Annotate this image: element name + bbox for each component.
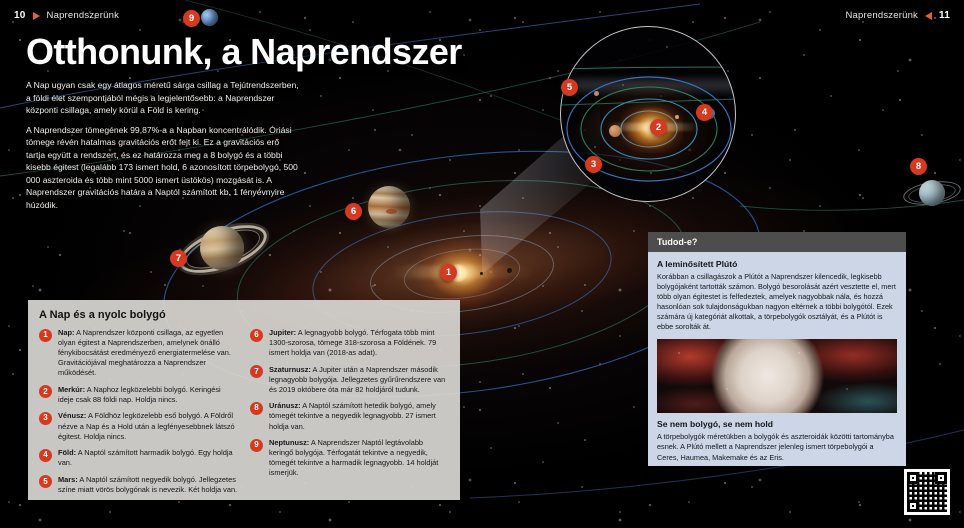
list-item: 2 Merkúr: A Naphoz legközelebbi bolygó. … xyxy=(39,385,238,405)
entry-number: 4 xyxy=(39,449,52,462)
pluto-subtitle: A leminősített Plútó xyxy=(657,259,897,269)
entry-term: Vénusz: xyxy=(58,411,86,420)
entry-term: Merkúr: xyxy=(58,385,85,394)
marker-label: 4 xyxy=(702,108,707,118)
marker-label: 6 xyxy=(351,207,356,217)
list-item: 7 Szaturnusz: A Jupiter után a Naprendsz… xyxy=(250,365,449,395)
list-item: 9 Neptunusz: A Naprendszer Naptól legtáv… xyxy=(250,438,449,478)
entry-number: 5 xyxy=(39,475,52,488)
list-item: 3 Vénusz: A Földhöz legközelebb eső boly… xyxy=(39,411,238,441)
entry-term: Nap: xyxy=(58,328,74,337)
marker-label: 5 xyxy=(567,83,572,93)
chevron-right-icon xyxy=(33,12,40,20)
page-number-right: 11 xyxy=(939,10,950,21)
list-item: 1 Nap: A Naprendszer központi csillaga, … xyxy=(39,328,238,378)
list-item: 8 Uránusz: A Naptól számított hetedik bo… xyxy=(250,401,449,431)
inset-mars-planet xyxy=(594,91,599,96)
entry-text: Jupiter: A legnagyobb bolygó. Térfogata … xyxy=(269,328,449,358)
entry-desc: A Naptól számított negyedik bolygó. Jell… xyxy=(58,475,237,494)
entry-desc: A Naptól számított harmadik bolygó. Egy … xyxy=(58,448,233,467)
qr-code-pattern xyxy=(907,472,947,512)
intro-paragraph-1: A Nap ugyan csak egy átlagos méretű sárg… xyxy=(26,79,300,117)
entry-number: 9 xyxy=(250,439,263,452)
intro-paragraph-2: A Naprendszer tömegének 99,87%-a a Napba… xyxy=(26,124,300,212)
entry-number: 2 xyxy=(39,385,52,398)
entry-term: Föld: xyxy=(58,448,76,457)
qr-code[interactable] xyxy=(904,469,950,515)
marker-mars-inset[interactable]: 5 xyxy=(561,79,578,96)
entry-term: Neptunusz: xyxy=(269,438,309,447)
marker-sun[interactable]: 1 xyxy=(440,264,457,281)
marker-label: 2 xyxy=(656,123,661,133)
pluto-photo xyxy=(657,339,897,413)
marker-earth-inset[interactable]: 4 xyxy=(696,104,713,121)
marker-neptune[interactable]: 9 xyxy=(183,10,200,27)
entry-term: Mars: xyxy=(58,475,78,484)
entry-term: Uránusz: xyxy=(269,401,301,410)
inner-planet-dot-a xyxy=(480,272,483,275)
header-left: 10 Naprendszerünk xyxy=(14,10,119,21)
marker-label: 7 xyxy=(176,254,181,264)
header-left-label: Naprendszerünk xyxy=(47,10,120,21)
marker-venus-inset[interactable]: 3 xyxy=(585,156,602,173)
did-you-know-header: Tudod-e? xyxy=(648,232,906,252)
entry-text: Uránusz: A Naptól számított hetedik boly… xyxy=(269,401,449,431)
entry-number: 8 xyxy=(250,402,263,415)
uranus-planet xyxy=(919,180,945,206)
marker-jupiter[interactable]: 6 xyxy=(345,203,362,220)
entry-desc: A Naprendszer központi csillaga, az egye… xyxy=(58,328,231,377)
planets-list-title: A Nap és a nyolc bolygó xyxy=(39,309,449,321)
saturn-planet xyxy=(200,226,244,270)
marker-uranus[interactable]: 8 xyxy=(910,158,927,175)
intro-text: A Nap ugyan csak egy átlagos méretű sárg… xyxy=(26,79,300,211)
list-item: 4 Föld: A Naptól számított harmadik boly… xyxy=(39,448,238,468)
list-item: 6 Jupiter: A legnagyobb bolygó. Térfogat… xyxy=(250,328,449,358)
entry-term: Jupiter: xyxy=(269,328,296,337)
chevron-left-icon xyxy=(925,12,932,20)
marker-label: 1 xyxy=(446,268,451,278)
did-you-know-body: A leminősített Plútó Korábban a csillagá… xyxy=(648,252,906,463)
marker-mercury-inset[interactable]: 2 xyxy=(650,119,667,136)
entry-text: Szaturnusz: A Jupiter után a Naprendszer… xyxy=(269,365,449,395)
entry-text: Vénusz: A Földhöz legközelebb eső bolygó… xyxy=(58,411,238,441)
jupiter-great-red-spot xyxy=(386,209,397,214)
qr-finder-bottom-left xyxy=(907,500,919,512)
entry-number: 3 xyxy=(39,412,52,425)
jupiter-planet xyxy=(368,186,410,228)
entry-number: 6 xyxy=(250,329,263,342)
marker-label: 9 xyxy=(189,14,194,24)
marker-label: 3 xyxy=(591,160,596,170)
qr-finder-top-left xyxy=(907,472,919,484)
entry-number: 7 xyxy=(250,365,263,378)
entry-text: Föld: A Naptól számított harmadik bolygó… xyxy=(58,448,238,468)
entry-text: Neptunusz: A Naprendszer Naptól legtávol… xyxy=(269,438,449,478)
entry-term: Szaturnusz: xyxy=(269,365,311,374)
dwarf-planet-subtitle: Se nem bolygó, se nem hold xyxy=(657,419,897,429)
list-item: 5 Mars: A Naptól számított negyedik boly… xyxy=(39,475,238,495)
qr-finder-top-right xyxy=(935,472,947,484)
did-you-know-panel: Tudod-e? A leminősített Plútó Korábban a… xyxy=(648,232,906,466)
inset-venus-planet xyxy=(609,125,621,137)
planets-list-panel: A Nap és a nyolc bolygó 1 Nap: A Naprend… xyxy=(28,300,460,500)
entry-number: 1 xyxy=(39,329,52,342)
inset-mercury-planet xyxy=(675,115,679,119)
inner-planet-dot-b xyxy=(507,268,512,273)
pluto-paragraph: Korábban a csillagászok a Plútót a Napre… xyxy=(657,272,897,332)
planets-list-column-1: 1 Nap: A Naprendszer központi csillaga, … xyxy=(39,328,238,501)
entry-text: Nap: A Naprendszer központi csillaga, az… xyxy=(58,328,238,378)
dwarf-planet-paragraph: A törpebolygók méretükben a bolygók és a… xyxy=(657,432,897,462)
marker-saturn[interactable]: 7 xyxy=(170,250,187,267)
entry-text: Merkúr: A Naphoz legközelebbi bolygó. Ke… xyxy=(58,385,238,405)
neptune-planet xyxy=(201,9,218,26)
header-right: Naprendszerünk 11 xyxy=(846,10,951,21)
page-spread: 5 4 2 3 1 7 6 8 9 10 Naprendszerünk Napr… xyxy=(0,0,964,528)
header-right-label: Naprendszerünk xyxy=(846,10,919,21)
entry-text: Mars: A Naptól számított negyedik bolygó… xyxy=(58,475,238,495)
marker-label: 8 xyxy=(916,162,921,172)
page-number-left: 10 xyxy=(14,10,26,21)
page-title: Otthonunk, a Naprendszer xyxy=(26,34,462,70)
planets-list-column-2: 6 Jupiter: A legnagyobb bolygó. Térfogat… xyxy=(250,328,449,501)
